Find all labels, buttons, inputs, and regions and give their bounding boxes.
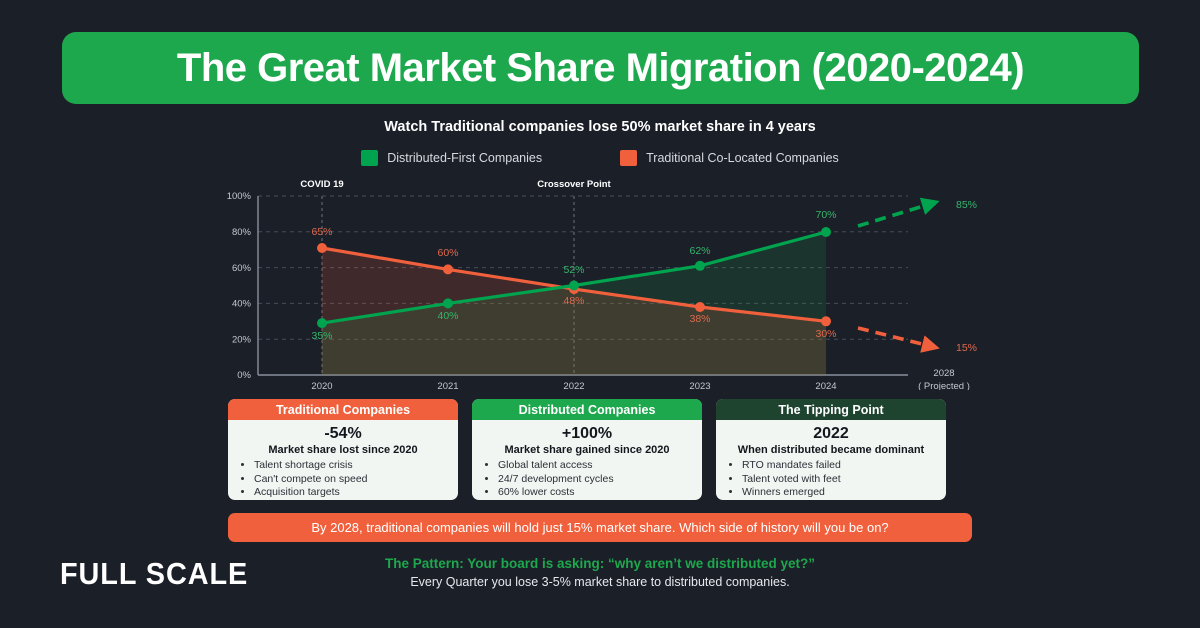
card-body-traditional: -54% Market share lost since 2020 Talent… bbox=[228, 420, 458, 500]
list-item: 60% lower costs bbox=[498, 486, 702, 500]
y-tick-20: 20% bbox=[232, 334, 252, 345]
x-tick-2028: 2028 bbox=[933, 368, 954, 379]
label-distributed-2020: 35% bbox=[311, 330, 332, 342]
x-tick-2021: 2021 bbox=[437, 381, 458, 390]
label-traditional-projection: 15% bbox=[956, 342, 977, 354]
footer-subline: Every Quarter you lose 3-5% market share… bbox=[228, 575, 972, 589]
legend-item-traditional: Traditional Co-Located Companies bbox=[620, 150, 839, 166]
label-distributed-projection: 85% bbox=[956, 199, 977, 211]
x-tick-2020: 2020 bbox=[311, 381, 332, 390]
card-header-tipping-point: The Tipping Point bbox=[716, 399, 946, 420]
card-stat-traditional: -54% bbox=[228, 425, 458, 443]
label-distributed-2022: 52% bbox=[563, 264, 584, 276]
chart-projection-distributed bbox=[858, 204, 930, 226]
page-title: The Great Market Share Migration (2020-2… bbox=[177, 46, 1024, 91]
legend-item-distributed: Distributed-First Companies bbox=[361, 150, 542, 166]
summary-cards: Traditional Companies -54% Market share … bbox=[228, 399, 972, 500]
footer-headline: The Pattern: Your board is asking: “why … bbox=[228, 556, 972, 571]
full-scale-logo: FULL SCALE bbox=[60, 556, 248, 592]
card-body-tipping-point: 2022 When distributed became dominant RT… bbox=[716, 420, 946, 500]
y-tick-0: 0% bbox=[237, 370, 251, 381]
card-subtitle-distributed: Market share gained since 2020 bbox=[472, 444, 702, 456]
footer-text: The Pattern: Your board is asking: “why … bbox=[228, 556, 972, 589]
label-traditional-2024: 30% bbox=[815, 328, 836, 340]
list-item: RTO mandates failed bbox=[742, 459, 946, 473]
legend-label-distributed: Distributed-First Companies bbox=[387, 151, 542, 165]
x-tick-2022: 2022 bbox=[563, 381, 584, 390]
y-tick-40: 40% bbox=[232, 299, 252, 310]
chart-svg: 100% 80% 60% 40% 20% 0% 2020 2021 2022 2… bbox=[218, 176, 978, 390]
y-tick-60: 60% bbox=[232, 263, 252, 274]
cta-banner: By 2028, traditional companies will hold… bbox=[228, 513, 972, 542]
list-item: Acquisition targets bbox=[254, 486, 458, 500]
list-item: Talent shortage crisis bbox=[254, 459, 458, 473]
list-item: 24/7 development cycles bbox=[498, 473, 702, 487]
card-stat-distributed: +100% bbox=[472, 425, 702, 443]
y-tick-80: 80% bbox=[232, 227, 252, 238]
card-bullets-traditional: Talent shortage crisis Can't compete on … bbox=[254, 459, 458, 500]
x-tick-2024: 2024 bbox=[815, 381, 836, 390]
list-item: Winners emerged bbox=[742, 486, 946, 500]
list-item: Global talent access bbox=[498, 459, 702, 473]
annotation-covid-19: COVID 19 bbox=[300, 179, 343, 190]
card-header-traditional: Traditional Companies bbox=[228, 399, 458, 420]
x-tick-2023: 2023 bbox=[689, 381, 710, 390]
title-banner: The Great Market Share Migration (2020-2… bbox=[62, 32, 1139, 104]
label-traditional-2022: 48% bbox=[563, 295, 584, 307]
label-distributed-2023: 62% bbox=[689, 245, 710, 257]
card-body-distributed: +100% Market share gained since 2020 Glo… bbox=[472, 420, 702, 500]
label-traditional-2020: 65% bbox=[311, 226, 332, 238]
label-traditional-2021: 60% bbox=[437, 247, 458, 259]
card-header-distributed: Distributed Companies bbox=[472, 399, 702, 420]
legend-label-traditional: Traditional Co-Located Companies bbox=[646, 151, 839, 165]
label-traditional-2023: 38% bbox=[689, 313, 710, 325]
card-traditional-companies: Traditional Companies -54% Market share … bbox=[228, 399, 458, 500]
chart-legend: Distributed-First Companies Traditional … bbox=[0, 150, 1200, 166]
card-tipping-point: The Tipping Point 2022 When distributed … bbox=[716, 399, 946, 500]
card-subtitle-tipping-point: When distributed became dominant bbox=[716, 444, 946, 456]
x-tick-2028-sub: ( Projected ) bbox=[918, 381, 970, 390]
annotation-crossover-point: Crossover Point bbox=[537, 179, 611, 190]
y-tick-100: 100% bbox=[227, 191, 252, 202]
card-stat-tipping-point: 2022 bbox=[716, 425, 946, 443]
card-subtitle-traditional: Market share lost since 2020 bbox=[228, 444, 458, 456]
card-bullets-tipping-point: RTO mandates failed Talent voted with fe… bbox=[742, 459, 946, 500]
list-item: Can't compete on speed bbox=[254, 473, 458, 487]
card-bullets-distributed: Global talent access 24/7 development cy… bbox=[498, 459, 702, 500]
list-item: Talent voted with feet bbox=[742, 473, 946, 487]
square-swatch-icon bbox=[620, 150, 637, 166]
label-distributed-2024: 70% bbox=[815, 209, 836, 221]
chart-projection-traditional bbox=[858, 328, 930, 346]
square-swatch-icon bbox=[361, 150, 378, 166]
card-distributed-companies: Distributed Companies +100% Market share… bbox=[472, 399, 702, 500]
market-share-line-chart: 100% 80% 60% 40% 20% 0% 2020 2021 2022 2… bbox=[218, 176, 978, 390]
chart-annotations: COVID 19 Crossover Point bbox=[300, 179, 611, 190]
label-distributed-2021: 40% bbox=[437, 310, 458, 322]
chart-y-tick-labels: 100% 80% 60% 40% 20% 0% bbox=[227, 191, 252, 381]
chart-subtitle: Watch Traditional companies lose 50% mar… bbox=[0, 119, 1200, 135]
